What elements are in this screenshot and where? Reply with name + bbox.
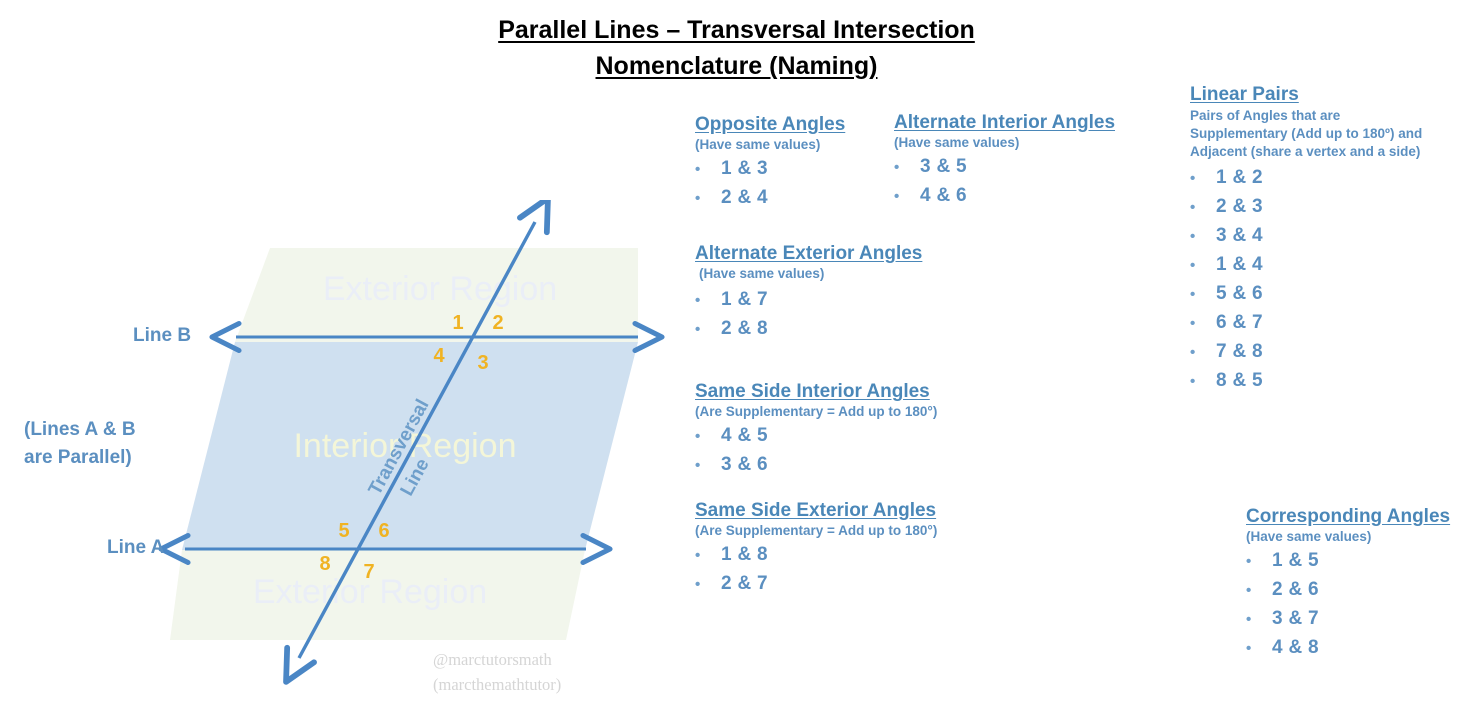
author-watermark: @marctutorsmath (marcthemathtutor) <box>433 647 561 697</box>
pair-value: 3 & 5 <box>920 153 967 181</box>
list-item: •3 & 7 <box>1246 605 1450 634</box>
linear-pairs-subtitle-line-1: Pairs of Angles that are <box>1190 107 1468 125</box>
angle-label-7: 7 <box>363 561 374 583</box>
pair-value: 2 & 3 <box>1216 193 1263 221</box>
list-item: •4 & 5 <box>695 422 937 451</box>
list-item: •2 & 4 <box>695 184 845 213</box>
pair-value: 6 & 7 <box>1216 309 1263 337</box>
pair-value: 4 & 6 <box>920 182 967 210</box>
bullet-icon: • <box>695 542 721 570</box>
angle-label-8: 8 <box>319 553 330 575</box>
list-item: •2 & 8 <box>695 315 922 344</box>
bullet-icon: • <box>1190 368 1216 396</box>
same-side-interior-angles-subtitle: (Are Supplementary = Add up to 180°) <box>695 403 937 420</box>
angle-label-2: 2 <box>492 312 503 334</box>
linear-pairs-list: •1 & 2 •2 & 3 •3 & 4 •1 & 4 •5 & 6 •6 & … <box>1190 164 1470 396</box>
opposite-angles-list: •1 & 3 •2 & 4 <box>695 155 845 213</box>
list-item: •8 & 5 <box>1190 367 1470 396</box>
bullet-icon: • <box>1190 194 1216 222</box>
bullet-icon: • <box>695 287 721 315</box>
parallel-note: (Lines A & B are Parallel) <box>24 416 136 472</box>
list-item: •1 & 8 <box>695 541 937 570</box>
author-handle: @marctutorsmath <box>433 647 561 672</box>
list-item: •1 & 2 <box>1190 164 1470 193</box>
same-side-exterior-angles-list: •1 & 8 •2 & 7 <box>695 541 937 599</box>
list-item: •1 & 4 <box>1190 251 1470 280</box>
alternate-interior-angles-heading: Alternate Interior Angles <box>894 112 1115 134</box>
pair-value: 7 & 8 <box>1216 338 1263 366</box>
angle-label-4: 4 <box>433 345 445 367</box>
pair-value: 1 & 2 <box>1216 164 1263 192</box>
bullet-icon: • <box>1246 577 1272 605</box>
page-title: Parallel Lines – Transversal Intersectio… <box>0 12 1473 84</box>
bullet-icon: • <box>1190 339 1216 367</box>
list-item: •6 & 7 <box>1190 309 1470 338</box>
section-alternate-exterior-angles: Alternate Exterior Angles (Have same val… <box>695 243 922 344</box>
corresponding-angles-list: •1 & 5 •2 & 6 •3 & 7 •4 & 8 <box>1246 547 1450 663</box>
linear-pairs-heading: Linear Pairs <box>1190 84 1470 106</box>
bullet-icon: • <box>695 571 721 599</box>
bullet-icon: • <box>1190 165 1216 193</box>
bullet-icon: • <box>1190 281 1216 309</box>
section-same-side-exterior-angles: Same Side Exterior Angles (Are Supplemen… <box>695 500 937 599</box>
list-item: •2 & 7 <box>695 570 937 599</box>
linear-pairs-subtitle-line-3: Adjacent (share a vertex and a side) <box>1190 143 1468 161</box>
list-item: •4 & 8 <box>1246 634 1450 663</box>
pair-value: 5 & 6 <box>1216 280 1263 308</box>
alternate-interior-angles-list: •3 & 5 •4 & 6 <box>894 153 1115 211</box>
pair-value: 1 & 4 <box>1216 251 1263 279</box>
list-item: •3 & 4 <box>1190 222 1470 251</box>
section-opposite-angles: Opposite Angles (Have same values) •1 & … <box>695 114 845 213</box>
bullet-icon: • <box>894 183 920 211</box>
angle-label-3: 3 <box>477 352 488 374</box>
pair-value: 1 & 7 <box>721 286 768 314</box>
angle-label-1: 1 <box>452 312 463 334</box>
bullet-icon: • <box>1246 606 1272 634</box>
same-side-exterior-angles-heading: Same Side Exterior Angles <box>695 500 937 522</box>
linear-pairs-subtitle: Pairs of Angles that are Supplementary (… <box>1190 107 1468 161</box>
alternate-interior-angles-subtitle: (Have same values) <box>894 134 1115 151</box>
bullet-icon: • <box>894 154 920 182</box>
author-alt-name: (marcthemathtutor) <box>433 672 561 697</box>
same-side-exterior-angles-subtitle: (Are Supplementary = Add up to 180°) <box>695 522 937 539</box>
bullet-icon: • <box>1246 548 1272 576</box>
pair-value: 1 & 8 <box>721 541 768 569</box>
list-item: •7 & 8 <box>1190 338 1470 367</box>
alternate-exterior-angles-subtitle: (Have same values) <box>695 265 922 282</box>
bullet-icon: • <box>695 185 721 213</box>
bullet-icon: • <box>1190 252 1216 280</box>
list-item: •2 & 6 <box>1246 576 1450 605</box>
page-title-line-1: Parallel Lines – Transversal Intersectio… <box>498 16 975 44</box>
bullet-icon: • <box>1246 635 1272 663</box>
list-item: •4 & 6 <box>894 182 1115 211</box>
pair-value: 3 & 6 <box>721 451 768 479</box>
bullet-icon: • <box>695 423 721 451</box>
parallel-note-line-2: are Parallel) <box>24 444 136 472</box>
pair-value: 8 & 5 <box>1216 367 1263 395</box>
list-item: •2 & 3 <box>1190 193 1470 222</box>
parallel-note-line-1: (Lines A & B <box>24 416 136 444</box>
pair-value: 3 & 4 <box>1216 222 1263 250</box>
bullet-icon: • <box>695 452 721 480</box>
list-item: •3 & 6 <box>695 451 937 480</box>
corresponding-angles-subtitle: (Have same values) <box>1246 528 1450 545</box>
bullet-icon: • <box>695 316 721 344</box>
section-alternate-interior-angles: Alternate Interior Angles (Have same val… <box>894 112 1115 211</box>
pair-value: 4 & 8 <box>1272 634 1319 662</box>
section-linear-pairs: Linear Pairs Pairs of Angles that are Su… <box>1190 84 1470 396</box>
pair-value: 2 & 4 <box>721 184 768 212</box>
list-item: •5 & 6 <box>1190 280 1470 309</box>
angle-label-6: 6 <box>378 520 389 542</box>
pair-value: 4 & 5 <box>721 422 768 450</box>
line-a-label: Line A <box>107 537 164 559</box>
section-corresponding-angles: Corresponding Angles (Have same values) … <box>1246 506 1450 663</box>
alternate-exterior-angles-list: •1 & 7 •2 & 8 <box>695 286 922 344</box>
list-item: •1 & 3 <box>695 155 845 184</box>
bullet-icon: • <box>695 156 721 184</box>
exterior-region-top-label: Exterior Region <box>323 270 557 308</box>
list-item: •3 & 5 <box>894 153 1115 182</box>
angle-label-5: 5 <box>338 520 349 542</box>
same-side-interior-angles-heading: Same Side Interior Angles <box>695 381 937 403</box>
list-item: •1 & 5 <box>1246 547 1450 576</box>
pair-value: 1 & 5 <box>1272 547 1319 575</box>
line-b-label: Line B <box>133 325 191 347</box>
linear-pairs-subtitle-line-2: Supplementary (Add up to 180º) and <box>1190 125 1468 143</box>
opposite-angles-subtitle: (Have same values) <box>695 136 845 153</box>
pair-value: 2 & 8 <box>721 315 768 343</box>
pair-value: 2 & 6 <box>1272 576 1319 604</box>
opposite-angles-heading: Opposite Angles <box>695 114 845 136</box>
bullet-icon: • <box>1190 223 1216 251</box>
pair-value: 2 & 7 <box>721 570 768 598</box>
pair-value: 1 & 3 <box>721 155 768 183</box>
bullet-icon: • <box>1190 310 1216 338</box>
corresponding-angles-heading: Corresponding Angles <box>1246 506 1450 528</box>
alternate-exterior-angles-heading: Alternate Exterior Angles <box>695 243 922 265</box>
section-same-side-interior-angles: Same Side Interior Angles (Are Supplemen… <box>695 381 937 480</box>
page-title-line-2: Nomenclature (Naming) <box>596 52 878 80</box>
list-item: •1 & 7 <box>695 286 922 315</box>
same-side-interior-angles-list: •4 & 5 •3 & 6 <box>695 422 937 480</box>
pair-value: 3 & 7 <box>1272 605 1319 633</box>
